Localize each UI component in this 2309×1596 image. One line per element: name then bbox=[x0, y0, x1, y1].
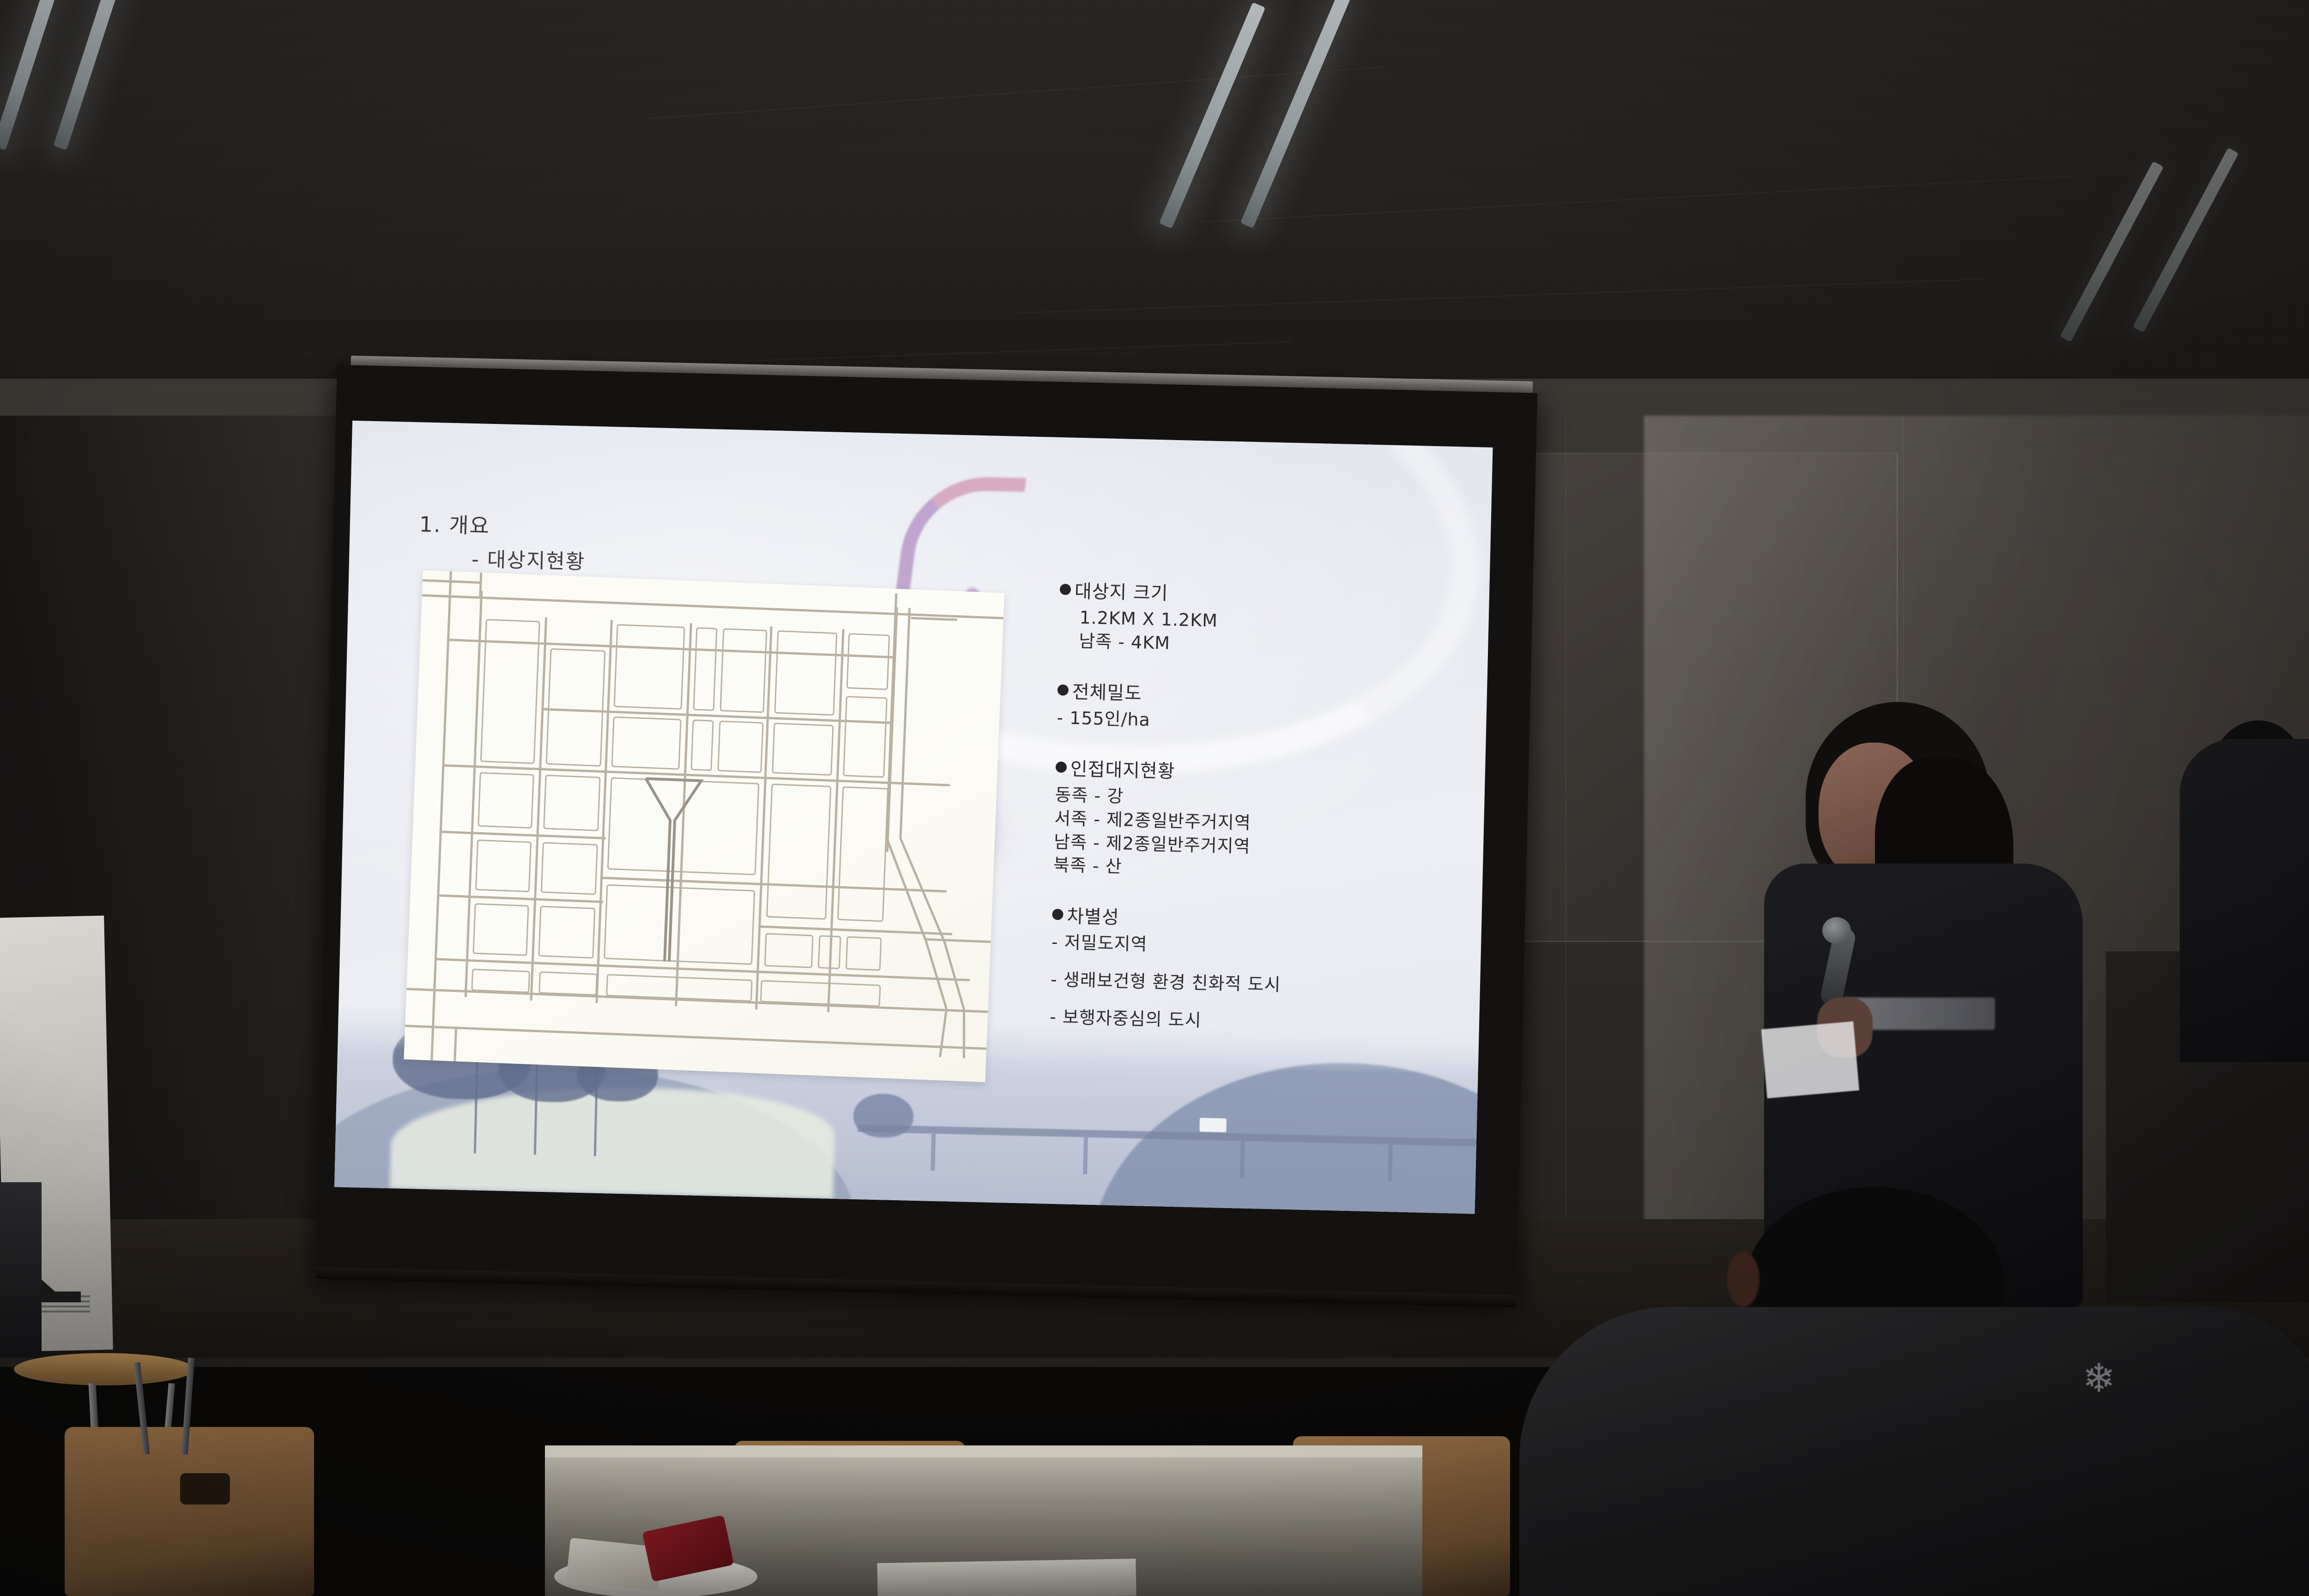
bullet-dot-icon bbox=[1060, 584, 1071, 595]
bridge-pier bbox=[1388, 1144, 1393, 1181]
slide-title: 1. 개요 bbox=[419, 508, 490, 540]
bridge-pier bbox=[931, 1134, 936, 1171]
second-person-body bbox=[2180, 739, 2309, 1062]
bullet-heading-label: 인접대지현황 bbox=[1070, 754, 1175, 783]
ceiling-tile-texture bbox=[0, 0, 2309, 406]
snack-tray bbox=[554, 1515, 771, 1596]
bullet-dot-icon bbox=[1058, 684, 1069, 696]
projected-slide: 1. 개요 - 대상지현황 bbox=[334, 421, 1493, 1214]
bullet-heading-label: 차별성 bbox=[1067, 901, 1120, 930]
chair-back bbox=[65, 1427, 314, 1596]
monitor-edge bbox=[0, 1182, 42, 1358]
audience-ear bbox=[1727, 1251, 1759, 1307]
snowflake-logo-icon: ❄ bbox=[2078, 1358, 2120, 1399]
site-plan-diagram bbox=[404, 570, 1004, 1082]
table-edge bbox=[545, 1445, 1422, 1457]
microphone-head-icon bbox=[1822, 917, 1851, 944]
bullet-heading-label: 대상지 크기 bbox=[1074, 576, 1168, 605]
foreground-audience-member: ❄ bbox=[1404, 1182, 2309, 1596]
bridge-pier bbox=[1240, 1141, 1245, 1178]
projection-screen: 1. 개요 - 대상지현황 bbox=[316, 365, 1538, 1303]
papers-on-table bbox=[877, 1559, 1136, 1596]
diagonal-roads bbox=[404, 570, 1004, 1082]
bullet-dot-icon bbox=[1056, 762, 1067, 773]
round-stool-seat bbox=[14, 1353, 194, 1385]
presenter-notes-paper bbox=[1761, 1022, 1859, 1099]
bridge-pier bbox=[1083, 1137, 1088, 1174]
ceiling bbox=[0, 0, 2309, 406]
lecture-room-photo: 1. 개요 - 대상지현황 bbox=[0, 0, 2309, 1596]
truck-on-bridge bbox=[1199, 1118, 1227, 1132]
chair-handle-slot bbox=[180, 1473, 230, 1505]
slide-subtitle: - 대상지현황 bbox=[471, 543, 586, 575]
bullet-dot-icon bbox=[1052, 909, 1064, 920]
slide-bullet-column: 대상지 크기 1.2KM X 1.2KM 남족 - 4KM 전체밀도 - 155… bbox=[1050, 576, 1467, 1039]
bullet-heading-label: 전체밀도 bbox=[1072, 677, 1142, 706]
audience-hoodie bbox=[1519, 1307, 2309, 1596]
